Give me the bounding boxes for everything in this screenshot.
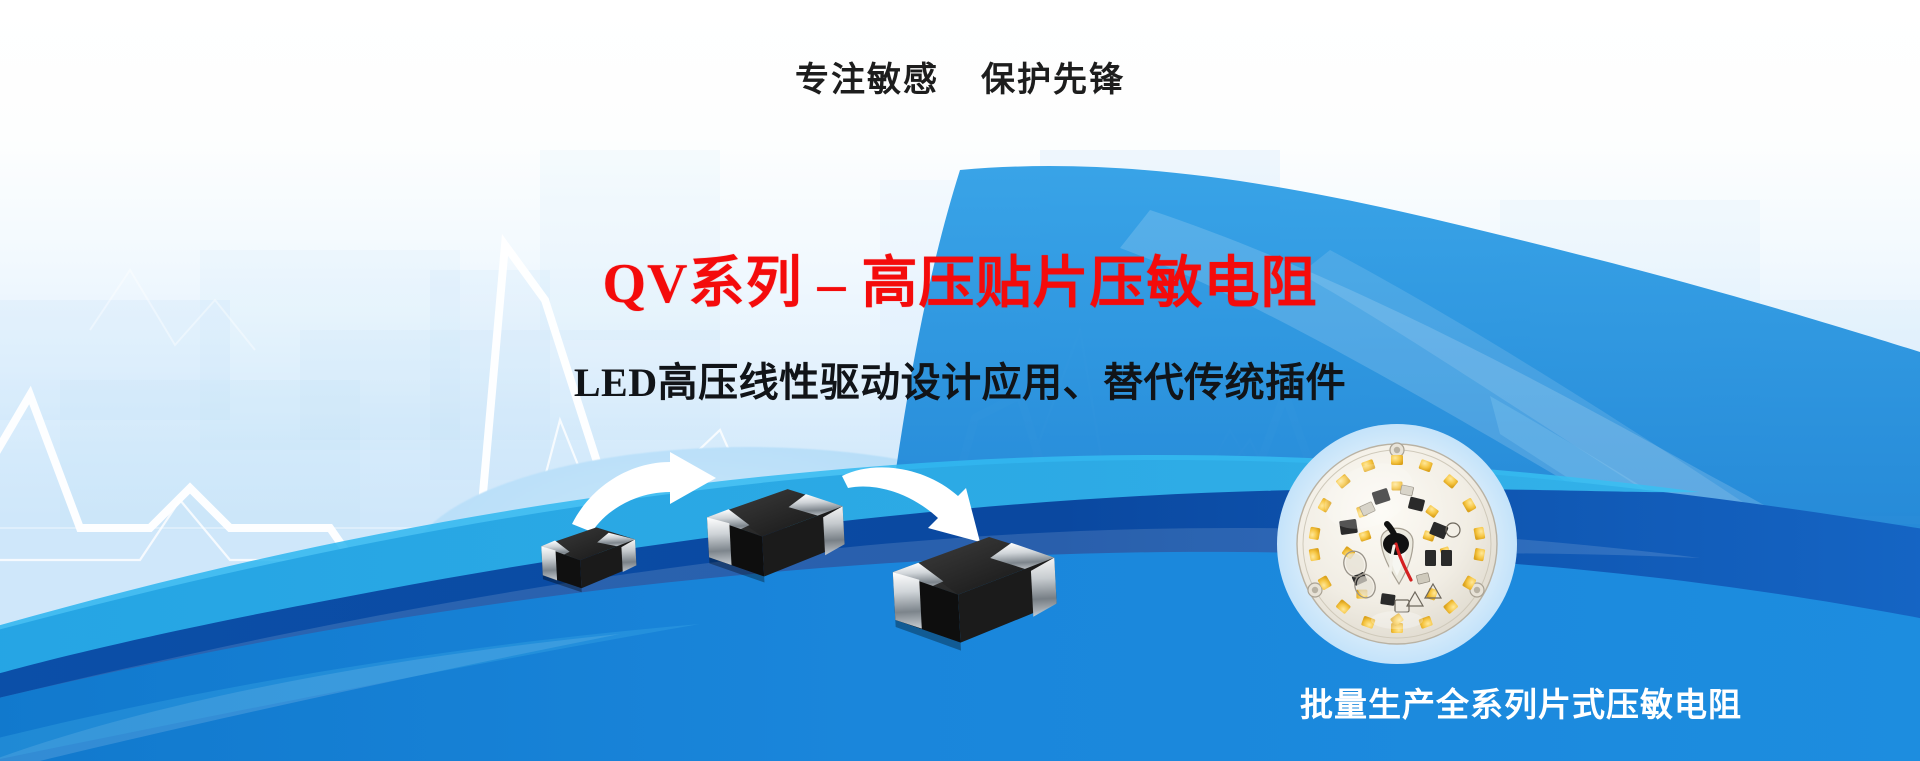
smd-varistor-chip-large bbox=[868, 515, 1073, 671]
led-pcb-module bbox=[1277, 424, 1517, 664]
banner-tagline: 专注敏感 保护先锋 bbox=[0, 52, 1920, 101]
banner-headline: QV系列 – 高压贴片压敏电阻 bbox=[0, 238, 1920, 319]
banner-footer-caption: 批量生产全系列片式压敏电阻 bbox=[1300, 678, 1742, 726]
smd-varistor-chip-medium bbox=[685, 470, 859, 601]
product-banner: 专注敏感 保护先锋 QV系列 – 高压贴片压敏电阻 LED高压线性驱动设计应用、… bbox=[0, 0, 1920, 761]
banner-subtitle: LED高压线性驱动设计应用、替代传统插件 bbox=[0, 350, 1920, 408]
smd-varistor-chip-small bbox=[524, 513, 646, 605]
